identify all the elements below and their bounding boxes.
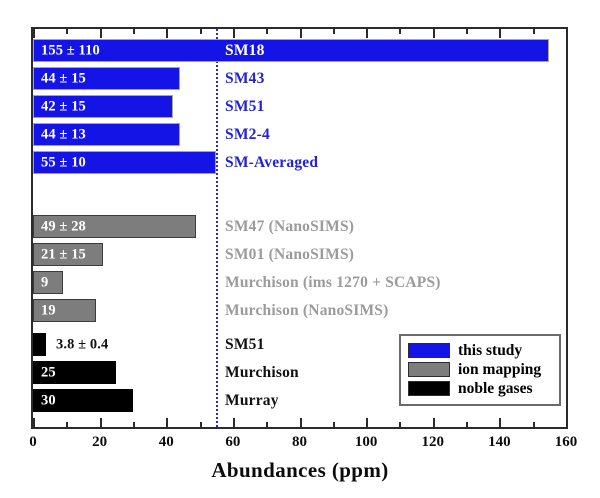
bar-category-label: Murray	[225, 392, 279, 410]
axis-tick-160	[566, 29, 568, 38]
bar-row: 9Murchison (ims 1270 + SCAPS)	[33, 271, 566, 294]
bar-value-label: 25	[41, 364, 56, 381]
x-axis-tick-label-140: 140	[488, 434, 511, 451]
legend-label: ion mapping	[458, 362, 541, 378]
bar-row: 42 ± 15SM51	[33, 95, 566, 118]
bar-category-label: SM01 (NanoSIMS)	[225, 246, 354, 264]
legend-label: noble gases	[458, 381, 533, 397]
x-axis-tick-label-0: 0	[29, 434, 37, 451]
bar-row: 49 ± 28SM47 (NanoSIMS)	[33, 215, 566, 238]
bar-value-label: 9	[41, 274, 48, 291]
abundances-bar-chart: 155 ± 110SM1844 ± 15SM4342 ± 15SM5144 ± …	[0, 0, 600, 498]
legend-item: ion mapping	[408, 360, 552, 379]
legend-box: this studyion mappingnoble gases	[399, 334, 561, 406]
bar-value-label: 42 ± 15	[41, 98, 86, 115]
bar-row: 44 ± 13SM2-4	[33, 123, 566, 146]
x-axis-tick-label-160: 160	[555, 434, 578, 451]
legend-swatch	[408, 362, 450, 377]
legend-item: this study	[408, 341, 552, 360]
x-axis-tick-label-60: 60	[225, 434, 240, 451]
axis-tick-160	[566, 418, 568, 427]
bar-row: 155 ± 110SM18	[33, 39, 566, 62]
bar-value-label: 21 ± 15	[41, 246, 86, 263]
bar-row: 55 ± 10SM-Averaged	[33, 151, 566, 174]
bar-category-label: SM-Averaged	[225, 154, 318, 172]
bar-value-label: 49 ± 28	[41, 218, 86, 235]
x-axis-tick-label-20: 20	[92, 434, 107, 451]
bar-category-label: SM51	[225, 336, 265, 354]
bar-category-label: SM18	[225, 42, 265, 60]
x-axis-tick-label-100: 100	[355, 434, 378, 451]
bar-value-label: 19	[41, 302, 56, 319]
bar-category-label: Murchison	[225, 364, 299, 382]
bar-row: 19Murchison (NanoSIMS)	[33, 299, 566, 322]
bar-value-label: 44 ± 15	[41, 70, 86, 87]
legend-swatch	[408, 343, 450, 358]
bar-row: 21 ± 15SM01 (NanoSIMS)	[33, 243, 566, 266]
bar-category-label: SM47 (NanoSIMS)	[225, 218, 354, 236]
bar-category-label: SM2-4	[225, 126, 270, 144]
legend-item: noble gases	[408, 379, 552, 398]
x-axis-title: Abundances (ppm)	[0, 458, 600, 483]
x-axis-tick-label-80: 80	[292, 434, 307, 451]
bar-value-label: 55 ± 10	[41, 154, 86, 171]
bar-value-label: 44 ± 13	[41, 126, 86, 143]
bar-value-label: 155 ± 110	[41, 42, 100, 59]
bar-category-label: Murchison (NanoSIMS)	[225, 302, 388, 320]
bar-black	[33, 333, 46, 356]
bar-value-label: 3.8 ± 0.4	[56, 336, 108, 353]
x-axis-tick-label-120: 120	[422, 434, 445, 451]
bar-category-label: SM51	[225, 98, 265, 116]
legend-swatch	[408, 381, 450, 396]
bar-value-label: 30	[41, 392, 56, 409]
plot-frame: 155 ± 110SM1844 ± 15SM4342 ± 15SM5144 ± …	[31, 27, 568, 429]
bar-row: 44 ± 15SM43	[33, 67, 566, 90]
bar-category-label: SM43	[225, 70, 265, 88]
bar-category-label: Murchison (ims 1270 + SCAPS)	[225, 274, 441, 292]
bar-blue	[33, 39, 549, 62]
x-axis-tick-label-40: 40	[159, 434, 174, 451]
legend-label: this study	[458, 343, 522, 359]
